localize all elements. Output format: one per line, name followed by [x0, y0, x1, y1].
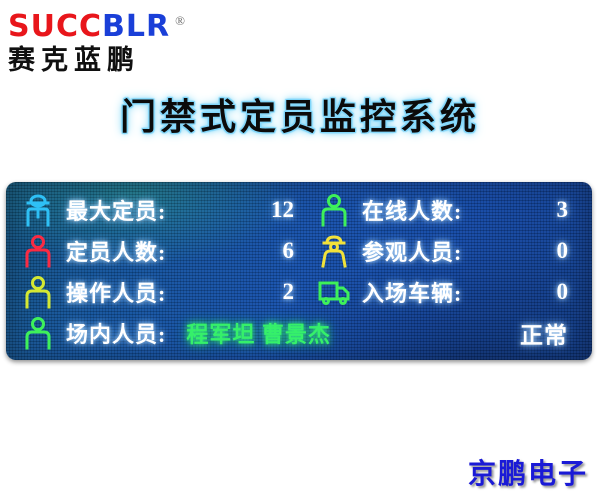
registered-trademark-icon: ® [175, 13, 186, 28]
led-value: 6 [283, 238, 317, 264]
truck-icon [316, 274, 352, 310]
brand-wordmark-blue: BLR [102, 9, 170, 44]
led-cell-vehicle-count: 入场车辆: 0 [316, 274, 582, 310]
status-badge: 正常 [520, 316, 582, 350]
led-label: 入场车辆: [362, 276, 462, 308]
led-cell-assigned-count: 定员人数: 6 [20, 233, 316, 269]
led-value: 12 [271, 197, 316, 223]
brand-wordmark-red: SUCC [8, 9, 102, 44]
led-label: 最大定员: [66, 194, 166, 226]
led-value: 2 [283, 279, 317, 305]
led-label: 在线人数: [362, 194, 462, 226]
person-icon [20, 315, 56, 351]
onsite-personnel-names: 程军坦 曹景杰 [186, 317, 331, 349]
led-display-grid: 最大定员: 12 在线人数: 3 [6, 182, 592, 360]
led-cell-visitor-count: 参观人员: 0 [316, 233, 582, 269]
table-row: 最大定员: 12 在线人数: 3 [20, 189, 582, 230]
table-row: 场内人员: 程军坦 曹景杰 正常 [20, 313, 582, 354]
led-cell-operator-count: 操作人员: 2 [20, 274, 316, 310]
table-row: 操作人员: 2 入场车辆: 0 [20, 272, 582, 313]
led-display-panel: 最大定员: 12 在线人数: 3 [6, 182, 592, 360]
page-title: 门禁式定员监控系统 [0, 88, 600, 140]
led-value: 0 [557, 238, 583, 264]
table-row: 定员人数: 6 参观人员: 0 [20, 230, 582, 271]
company-mark: 京鹏电子 [468, 452, 588, 492]
led-value: 0 [557, 279, 583, 305]
led-label: 操作人员: [66, 276, 166, 308]
person-icon [20, 233, 56, 269]
led-cell-onsite-personnel: 场内人员: [20, 315, 166, 351]
brand-wordmark: SUCCBLR® [8, 6, 238, 42]
brand-logo: SUCCBLR® 赛克蓝鹏 [8, 6, 238, 76]
person-icon [316, 192, 352, 228]
led-cell-online-count: 在线人数: 3 [316, 192, 582, 228]
led-label: 参观人员: [362, 235, 462, 267]
led-value: 3 [557, 197, 583, 223]
brand-chinese-name: 赛克蓝鹏 [8, 44, 238, 76]
person-icon [20, 274, 56, 310]
person-hat-icon [316, 233, 352, 269]
led-label: 场内人员: [66, 317, 166, 349]
led-label: 定员人数: [66, 235, 166, 267]
person-cap-icon [20, 192, 56, 228]
led-cell-max-capacity: 最大定员: 12 [20, 192, 316, 228]
